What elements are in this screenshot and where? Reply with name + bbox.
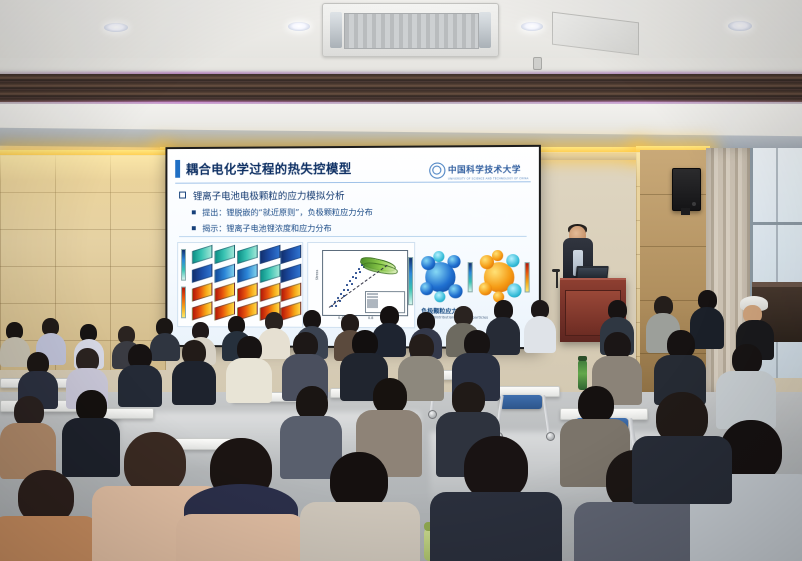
- audience-person: [632, 392, 732, 502]
- microphone-head: [552, 269, 560, 272]
- ac-vent: [479, 12, 491, 47]
- particle-3d-blue: [434, 291, 445, 302]
- colorbar: [525, 262, 530, 292]
- speaker-bracket: [681, 208, 690, 215]
- colorbar: [408, 257, 413, 305]
- slide-title: 耦合电化学过程的热失控模型: [186, 158, 352, 178]
- ceiling-downlight: [521, 22, 543, 31]
- logo-name: 中国科学技术大学: [448, 165, 521, 175]
- particle-3d-orange: [492, 250, 503, 261]
- audience-person: [226, 336, 272, 402]
- slide-bullets: 锂离子电池电极颗粒的应力模拟分析 提出：锂脱嵌的“就近原则”，负极颗粒应力分布 …: [179, 187, 526, 237]
- title-accent-bar: [175, 160, 180, 178]
- ceiling-ac-unit: [322, 3, 499, 57]
- square-filled-icon: [192, 210, 196, 214]
- particle-3d-blue: [420, 282, 433, 295]
- bullet-text: 提出：锂脱嵌的“就近原则”，负极颗粒应力分布: [202, 207, 373, 217]
- colorbar: [181, 287, 186, 319]
- slide-title-bar: 耦合电化学过程的热失控模型 中国科学技术大学 UNIVERSITY OF SCI…: [175, 155, 530, 184]
- particle-3d-orange: [507, 283, 521, 297]
- colorbar: [181, 249, 186, 281]
- logo-seal-icon: [429, 162, 445, 178]
- audience-person: [300, 452, 420, 561]
- bullet-text: 揭示：锂离子电池锂浓度和应力分布: [202, 223, 331, 233]
- ceiling-sensor: [533, 57, 542, 70]
- colorbar: [468, 262, 473, 292]
- chair-back: [500, 395, 542, 409]
- bullet-item: 提出：锂脱嵌的“就近原则”，负极颗粒应力分布: [192, 206, 527, 219]
- university-logo: 中国科学技术大学 UNIVERSITY OF SCIENCE AND TECHN…: [429, 159, 529, 181]
- ac-vent: [330, 12, 342, 47]
- bullet-item: 锂离子电池电极颗粒的应力模拟分析: [179, 187, 526, 202]
- axis-label: Stress: [315, 270, 319, 280]
- audience-person: [0, 396, 56, 478]
- bullet-text: 锂离子电池电极颗粒的应力模拟分析: [193, 191, 345, 202]
- audience-person: [524, 300, 556, 352]
- ac-grille: [344, 13, 479, 48]
- ceiling-downlight: [728, 21, 752, 31]
- audience-person: [172, 340, 216, 404]
- lecture-hall-photo: 耦合电化学过程的热失控模型 中国科学技术大学 UNIVERSITY OF SCI…: [0, 0, 802, 561]
- audience-person: [176, 438, 306, 561]
- square-filled-icon: [192, 226, 196, 230]
- particle-3d-blue: [448, 284, 462, 298]
- audience-person: [118, 344, 162, 406]
- square-hollow-icon: [179, 192, 186, 199]
- microphone-stand: [556, 272, 558, 288]
- wall-speaker: [672, 168, 701, 211]
- ceiling: [0, 0, 802, 150]
- ceiling-downlight: [104, 23, 128, 32]
- particle-3d-blue: [433, 251, 444, 262]
- logo-subtitle: UNIVERSITY OF SCIENCE AND TECHNOLOGY OF …: [448, 177, 529, 180]
- ceiling-downlight: [288, 22, 310, 31]
- audience-person: [430, 436, 562, 561]
- audience-person: [0, 470, 100, 561]
- water-bottle-cap: [578, 356, 587, 361]
- particle-3d-orange: [506, 254, 519, 267]
- particle-3d-orange: [479, 282, 492, 295]
- particle-3d-blue: [447, 255, 460, 268]
- bullet-item: 揭示：锂离子电池锂浓度和应力分布: [192, 222, 527, 234]
